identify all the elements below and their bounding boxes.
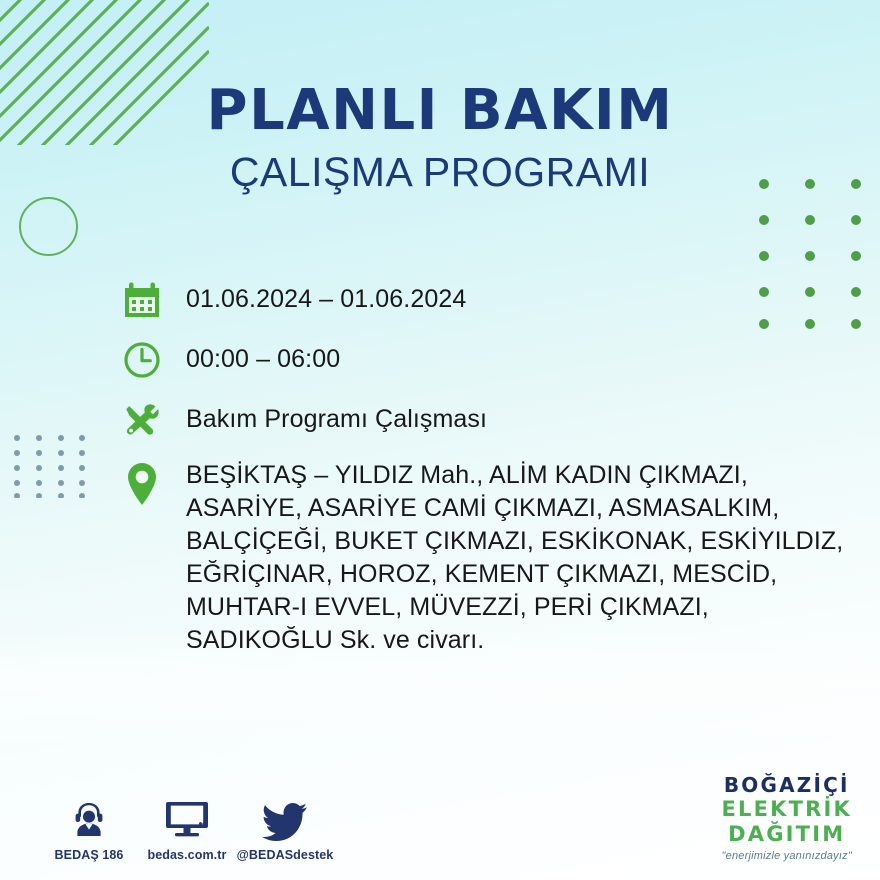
- info-row-location: BEŞİKTAŞ – YILDIZ Mah., ALİM KADIN ÇIKMA…: [118, 459, 858, 657]
- work-type-text: Bakım Programı Çalışması: [166, 397, 487, 436]
- headset-support-icon: [40, 797, 138, 841]
- page-title: PLANLI BAKIM: [0, 82, 880, 141]
- contact-twitter[interactable]: @BEDASdestek: [236, 797, 334, 862]
- clock-icon: [118, 337, 166, 383]
- page-subtitle: ÇALIŞMA PROGRAMI: [0, 149, 880, 196]
- contact-website-label: bedas.com.tr: [138, 848, 236, 862]
- time-range-text: 00:00 – 06:00: [166, 337, 340, 376]
- location-text: BEŞİKTAŞ – YILDIZ Mah., ALİM KADIN ÇIKMA…: [166, 459, 843, 657]
- calendar-icon: [118, 277, 166, 323]
- circle-outline-decoration: [19, 197, 78, 256]
- poster-root: PLANLI BAKIM ÇALIŞMA PROGRAMI 01.06.2024…: [0, 0, 880, 880]
- brand-tagline: "enerjimizle yanınızdayız": [721, 851, 852, 862]
- map-pin-icon: [118, 459, 166, 507]
- address-line: EĞRİÇINAR, HOROZ, KEMENT ÇIKMAZI, MESCİD…: [186, 558, 843, 591]
- contact-phone[interactable]: BEDAŞ 186: [40, 797, 138, 862]
- address-line: BALÇİÇEĞİ, BUKET ÇIKMAZI, ESKİKONAK, ESK…: [186, 525, 843, 558]
- dot-grid-left-decoration: [13, 434, 85, 498]
- tools-icon: [118, 397, 166, 443]
- info-row-time: 00:00 – 06:00: [118, 337, 858, 383]
- info-block: 01.06.2024 – 01.06.2024 00:00 – 06:00: [118, 277, 858, 669]
- poster-header: PLANLI BAKIM ÇALIŞMA PROGRAMI: [0, 82, 880, 196]
- address-line: MUHTAR-I EVVEL, MÜVEZZİ, PERİ ÇIKMAZI,: [186, 591, 843, 624]
- twitter-bird-icon: [236, 797, 334, 841]
- brand-line-2: ELEKTRİK: [721, 799, 852, 820]
- contact-twitter-label: @BEDASdestek: [236, 848, 334, 862]
- info-row-date: 01.06.2024 – 01.06.2024: [118, 277, 858, 323]
- contact-phone-label: BEDAŞ 186: [40, 848, 138, 862]
- date-range-text: 01.06.2024 – 01.06.2024: [166, 277, 466, 316]
- contact-website[interactable]: bedas.com.tr: [138, 797, 236, 862]
- brand-line-3: DAĞITIM: [721, 824, 852, 845]
- info-row-work-type: Bakım Programı Çalışması: [118, 397, 858, 443]
- monitor-icon: [138, 797, 236, 841]
- brand-line-1: BOĞAZİÇİ: [721, 775, 852, 795]
- brand-logo: BOĞAZİÇİ ELEKTRİK DAĞITIM "enerjimizle y…: [721, 775, 852, 862]
- address-line: SADIKOĞLU Sk. ve civarı.: [186, 624, 843, 657]
- address-line: BEŞİKTAŞ – YILDIZ Mah., ALİM KADIN ÇIKMA…: [186, 459, 843, 492]
- address-line: ASARİYE, ASARİYE CAMİ ÇIKMAZI, ASMASALKI…: [186, 492, 843, 525]
- footer-contacts: BEDAŞ 186 bedas.com.tr: [40, 797, 334, 862]
